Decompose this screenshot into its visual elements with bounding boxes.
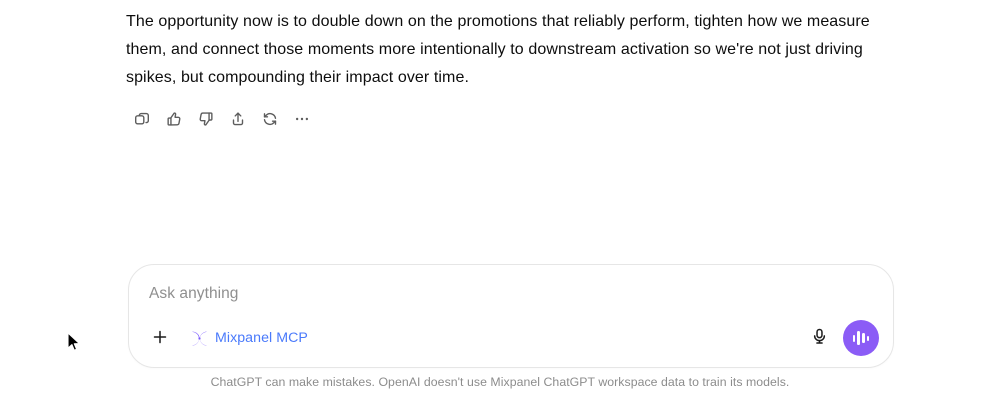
chat-page: The opportunity now is to double down on… xyxy=(0,0,1000,400)
message-input[interactable] xyxy=(149,283,873,305)
assistant-message: The opportunity now is to double down on… xyxy=(126,8,884,93)
composer-input-row xyxy=(149,283,873,305)
message-composer[interactable]: Mixpanel MCP xyxy=(128,264,894,368)
regenerate-icon xyxy=(261,110,279,128)
thumbs-down-icon xyxy=(197,110,215,128)
more-options-button[interactable] xyxy=(286,105,318,133)
mixpanel-mcp-label: Mixpanel MCP xyxy=(215,330,308,346)
message-action-toolbar xyxy=(126,105,318,133)
assistant-message-text: The opportunity now is to double down on… xyxy=(126,8,884,93)
voice-mode-button[interactable] xyxy=(843,320,879,356)
copy-icon xyxy=(133,110,151,128)
mixpanel-logo-icon xyxy=(191,330,208,347)
thumbs-down-button[interactable] xyxy=(190,105,222,133)
copy-button[interactable] xyxy=(126,105,158,133)
share-button[interactable] xyxy=(222,105,254,133)
add-attachment-button[interactable] xyxy=(145,323,175,353)
mouse-cursor xyxy=(67,332,83,354)
mixpanel-mcp-chip[interactable]: Mixpanel MCP xyxy=(187,327,312,350)
regenerate-button[interactable] xyxy=(254,105,286,133)
thumbs-up-icon xyxy=(165,110,183,128)
more-options-icon xyxy=(293,110,311,128)
share-icon xyxy=(229,110,247,128)
disclaimer-text: ChatGPT can make mistakes. OpenAI doesn'… xyxy=(0,375,1000,389)
thumbs-up-button[interactable] xyxy=(158,105,190,133)
waveform-icon xyxy=(853,330,870,346)
dictate-button[interactable] xyxy=(803,322,835,354)
composer-toolbar: Mixpanel MCP xyxy=(129,309,893,367)
microphone-icon xyxy=(810,327,829,349)
plus-icon xyxy=(151,328,169,349)
